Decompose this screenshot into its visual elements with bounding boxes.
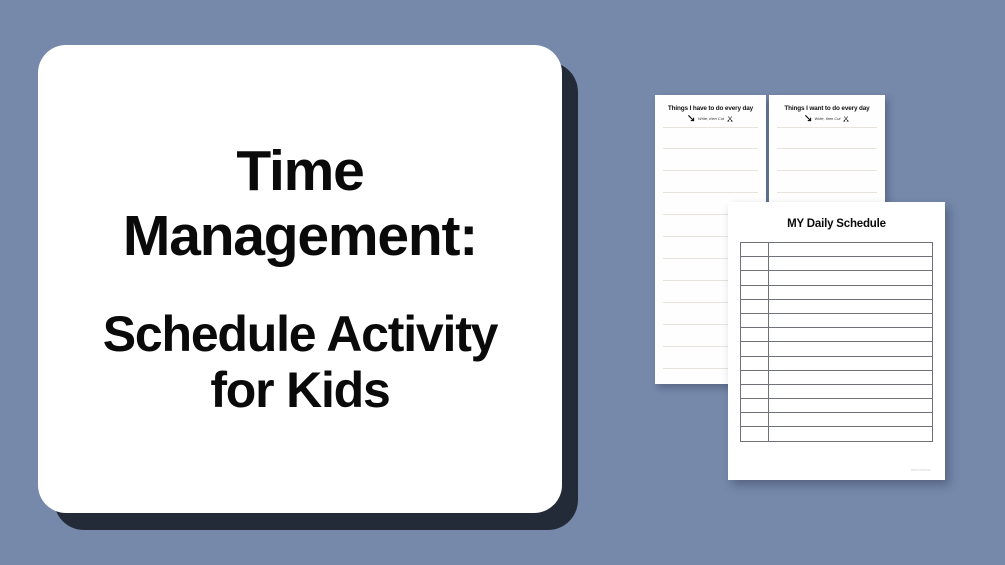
rule-line[interactable] (777, 171, 877, 193)
rule-line[interactable] (663, 171, 758, 193)
schedule-time-cell[interactable] (741, 384, 769, 398)
schedule-activity-cell[interactable] (769, 313, 933, 327)
schedule-activity-cell[interactable] (769, 271, 933, 285)
worksheet-instruction: Write, then Cut (698, 116, 724, 121)
schedule-row[interactable] (741, 399, 933, 413)
schedule-activity-cell[interactable] (769, 427, 933, 441)
schedule-title: MY Daily Schedule (740, 218, 933, 230)
schedule-activity-cell[interactable] (769, 257, 933, 271)
schedule-row[interactable] (741, 285, 933, 299)
rule-line[interactable] (777, 149, 877, 171)
schedule-time-cell[interactable] (741, 243, 769, 257)
schedule-time-cell[interactable] (741, 257, 769, 271)
worksheet-instruction: Write, then Cut (815, 116, 841, 121)
scissors-icon (727, 116, 733, 122)
schedule-time-cell[interactable] (741, 285, 769, 299)
schedule-activity-cell[interactable] (769, 243, 933, 257)
worksheet-instruction-row: Write, then Cut (769, 115, 885, 122)
schedule-activity-cell[interactable] (769, 384, 933, 398)
rule-line[interactable] (663, 127, 758, 149)
schedule-row[interactable] (741, 313, 933, 327)
arrow-icon (688, 115, 695, 122)
worksheet-stack: Things I have to do every day Write, the… (0, 0, 1005, 565)
schedule-activity-cell[interactable] (769, 285, 933, 299)
schedule-activity-cell[interactable] (769, 299, 933, 313)
schedule-row[interactable] (741, 370, 933, 384)
schedule-row[interactable] (741, 328, 933, 342)
schedule-time-cell[interactable] (741, 399, 769, 413)
schedule-row[interactable] (741, 356, 933, 370)
worksheet-title: Things I have to do every day (655, 105, 766, 112)
schedule-row[interactable] (741, 271, 933, 285)
schedule-time-cell[interactable] (741, 342, 769, 356)
schedule-activity-cell[interactable] (769, 328, 933, 342)
schedule-time-cell[interactable] (741, 427, 769, 441)
schedule-row[interactable] (741, 257, 933, 271)
schedule-time-cell[interactable] (741, 299, 769, 313)
worksheet-my-daily-schedule[interactable]: MY Daily Schedule teachstarter (728, 202, 945, 480)
schedule-time-cell[interactable] (741, 313, 769, 327)
schedule-row[interactable] (741, 384, 933, 398)
schedule-time-cell[interactable] (741, 328, 769, 342)
schedule-time-cell[interactable] (741, 370, 769, 384)
schedule-time-cell[interactable] (741, 271, 769, 285)
schedule-activity-cell[interactable] (769, 342, 933, 356)
schedule-time-cell[interactable] (741, 356, 769, 370)
schedule-activity-cell[interactable] (769, 399, 933, 413)
scissors-icon (843, 116, 849, 122)
rule-line[interactable] (777, 127, 877, 149)
worksheet-title: Things I want to do every day (769, 105, 885, 112)
schedule-table-body (741, 243, 933, 442)
rule-line[interactable] (663, 149, 758, 171)
schedule-row[interactable] (741, 413, 933, 427)
schedule-row[interactable] (741, 427, 933, 441)
schedule-table (740, 242, 933, 442)
schedule-row[interactable] (741, 299, 933, 313)
schedule-activity-cell[interactable] (769, 413, 933, 427)
schedule-activity-cell[interactable] (769, 356, 933, 370)
schedule-time-cell[interactable] (741, 413, 769, 427)
schedule-activity-cell[interactable] (769, 370, 933, 384)
watermark: teachstarter (911, 468, 931, 472)
worksheet-instruction-row: Write, then Cut (655, 115, 766, 122)
schedule-row[interactable] (741, 243, 933, 257)
schedule-row[interactable] (741, 342, 933, 356)
arrow-icon (805, 115, 812, 122)
